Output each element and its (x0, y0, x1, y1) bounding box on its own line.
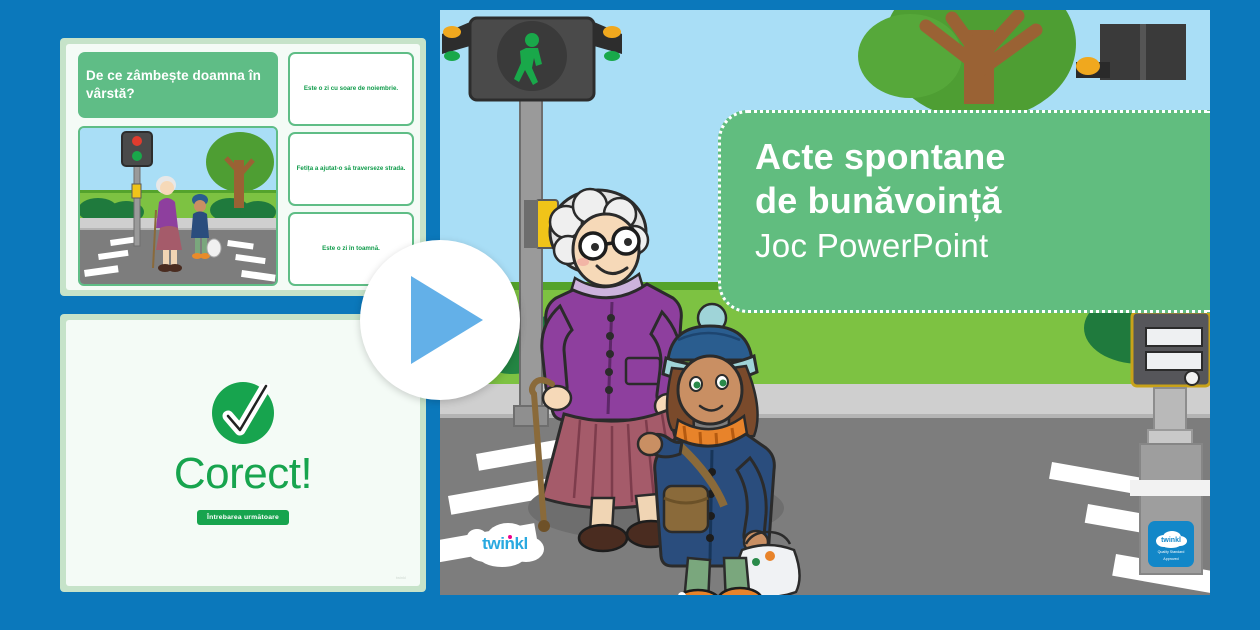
twinkl-wordmark: twinkl (482, 534, 528, 554)
feedback-slide-canvas: Corect! Întrebarea următoare twinkl (66, 320, 420, 586)
slide-subtitle: Joc PowerPoint (755, 225, 1190, 266)
answer-option-2-label: Fetița a ajutat-o să traverseze strada. (297, 165, 406, 174)
feedback-heading: Corect! (174, 452, 312, 496)
crosswalk-scene-thumb-svg (80, 128, 278, 286)
answer-option-3-label: Este o zi în toamnă. (322, 245, 380, 254)
feedback-content: Corect! Întrebarea următoare (66, 320, 420, 586)
question-illustration (78, 126, 278, 286)
check-circle-icon (212, 382, 274, 444)
badge-line2: Approved (1163, 557, 1178, 562)
badge-line1: Quality Standard (1158, 550, 1185, 555)
slide-title-line1: Acte spontane (755, 135, 1190, 179)
play-button[interactable] (360, 240, 520, 400)
play-triangle-icon (411, 276, 483, 364)
main-slide-preview[interactable]: Acte spontane de bunăvoință Joc PowerPoi… (440, 10, 1210, 595)
slide-title-box: Acte spontane de bunăvoință Joc PowerPoi… (718, 110, 1210, 313)
svg-text:twinkl: twinkl (1161, 537, 1181, 544)
next-question-button[interactable]: Întrebarea următoare (197, 510, 289, 525)
question-header: De ce zâmbește doamna în vârstă? (78, 52, 278, 118)
answer-option-1-label: Este o zi cu soare de noiembrie. (304, 85, 398, 94)
quality-standard-badge: twinkl Quality Standard Approved (1148, 521, 1194, 567)
twinkl-logo: twinkl (464, 521, 546, 567)
answer-option-2[interactable]: Fetița a ajutat-o să traverseze strada. (288, 132, 414, 206)
badge-cloud-icon: twinkl (1155, 530, 1187, 548)
slide-title-line2: de bunăvoință (755, 179, 1190, 223)
question-slide-canvas: De ce zâmbește doamna în vârstă? (66, 44, 420, 290)
question-slide-thumbnail[interactable]: De ce zâmbește doamna în vârstă? (60, 38, 426, 296)
answer-option-1[interactable]: Este o zi cu soare de noiembrie. (288, 52, 414, 126)
question-text: De ce zâmbește doamna în vârstă? (86, 67, 270, 103)
slide-footer-note: twinkl (396, 575, 406, 580)
twinkl-dot-icon (508, 535, 512, 539)
